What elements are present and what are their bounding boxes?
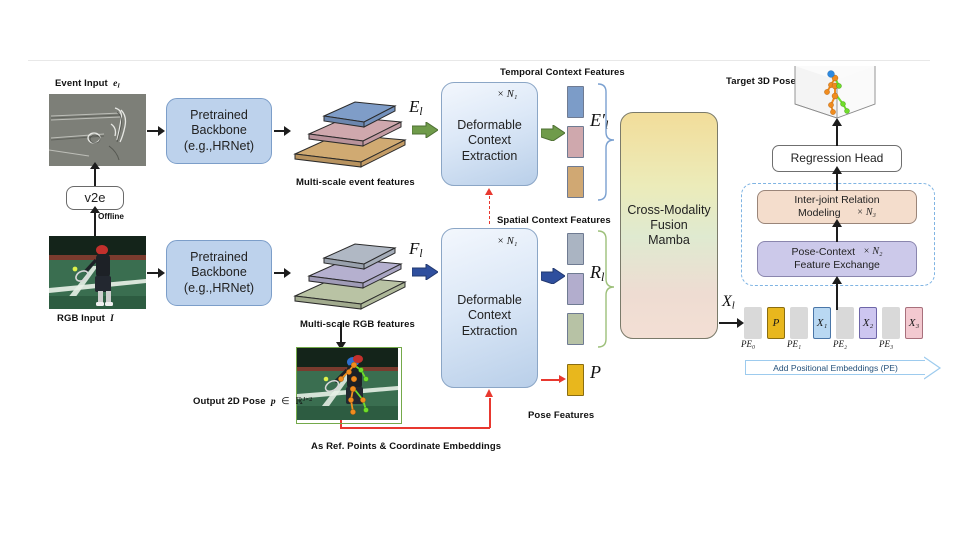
inter-joint-repeat: × N₃: [857, 207, 876, 220]
token-label: P: [773, 317, 780, 329]
arrow-pcfe-to-inter-line: [836, 226, 838, 242]
event-backbone-line1: Pretrained: [184, 108, 254, 123]
inter-joint-line1: Inter-joint Relation: [794, 194, 879, 207]
figure-canvas: Event Input eI: [0, 0, 959, 540]
event-dce-line2: Context: [457, 133, 522, 148]
temporal-bar-2: [567, 126, 584, 158]
event-stack-symbol: El: [409, 97, 423, 118]
cross-modality-fusion-mamba-box: Cross-Modality Fusion Mamba: [620, 112, 718, 339]
rgb-dce-line2: Context: [457, 308, 522, 323]
event-backbone-line2: Backbone: [184, 123, 254, 138]
arrow-pose-feature-line: [541, 379, 561, 381]
token-7: X₃: [905, 307, 923, 339]
arrow-reg-to-pose3d-line: [836, 126, 838, 146]
event-dce-line1: Deformable: [457, 118, 522, 133]
pe-slot-0: [744, 307, 762, 339]
arrow-rgb-stack-to-dce: [412, 264, 438, 285]
token-1: P: [767, 307, 785, 339]
rgb-input-label: RGB Input I: [57, 313, 114, 324]
arrow-rgb-backbone-out-head: [284, 268, 291, 278]
arrow-rgb-to-v2e-head: [90, 206, 100, 213]
pe-banner-arrow-outline: [924, 355, 942, 386]
arrow-inter-to-reg-line: [836, 173, 838, 191]
output-2d-pose-thumbnail: [296, 347, 402, 424]
dashed-arrow-rgb-to-event-dce-head: [485, 188, 493, 195]
pe-label-6: PE₃: [879, 339, 893, 349]
spatial-bar-2: [567, 273, 584, 305]
arrow-rgb-dce-out: [541, 268, 565, 289]
target-3d-pose-visual: [787, 64, 883, 122]
pose-context-feature-exchange-box: Pose-Context × N₂ Feature Exchange: [757, 241, 917, 277]
offline-label: Offline: [98, 212, 124, 221]
arrow-event-to-backbone-head: [158, 126, 165, 136]
arrow-pose-to-dce-head: [485, 389, 493, 397]
temporal-brace: [596, 82, 618, 207]
token-5: X₂: [859, 307, 877, 339]
temporal-bar-1: [567, 86, 584, 118]
rgb-dce-line1: Deformable: [457, 293, 522, 308]
rgb-dce-repeat: × N₁: [497, 236, 517, 247]
dashed-arrow-rgb-to-event-dce-line: [489, 196, 490, 224]
token-label: X₁: [817, 317, 828, 329]
event-backbone-box: Pretrained Backbone (e.g.,HRNet): [166, 98, 272, 164]
event-dce-line3: Extraction: [457, 149, 522, 164]
rgb-deformable-context-extraction-box: Deformable Context Extraction: [441, 228, 538, 388]
fusion-line3: Mamba: [627, 233, 710, 248]
fusion-output-symbol: Xl: [722, 293, 735, 312]
regression-head-label: Regression Head: [791, 151, 884, 166]
rgb-feature-stack: [291, 238, 411, 318]
rgb-backbone-line2: Backbone: [184, 265, 254, 280]
arrow-fusion-to-tokens-head: [737, 318, 744, 328]
pose-features-caption: Pose Features: [528, 410, 594, 421]
header-divider: [28, 60, 930, 61]
token-label: X₃: [909, 317, 920, 329]
fusion-line1: Cross-Modality: [627, 203, 710, 218]
arrow-v2e-to-event-head: [90, 162, 100, 169]
output-2d-pose-caption: Output 2D Pose p ∈ ℝJ×2: [193, 396, 312, 407]
arrow-event-dce-out: [541, 125, 565, 146]
arrow-pose-to-dce-h: [340, 427, 490, 429]
pose-context-line2: Feature Exchange: [791, 259, 882, 272]
spatial-brace: [596, 229, 618, 354]
arrow-pcfe-to-inter-head: [832, 219, 842, 227]
pose-context-line1: Pose-Context: [791, 246, 855, 259]
arrow-pose-to-dce-v-right: [489, 398, 491, 428]
rgb-backbone-line3: (e.g.,HRNet): [184, 281, 254, 296]
pe-label-0: PE₀: [741, 339, 755, 349]
v2e-label: v2e: [85, 190, 106, 206]
spatial-bar-3: [567, 313, 584, 345]
pe-slot-2: [790, 307, 808, 339]
arrow-v2e-to-event-line: [94, 168, 96, 186]
pe-label-2: PE₁: [787, 339, 801, 349]
rgb-backbone-line1: Pretrained: [184, 250, 254, 265]
event-input-thumbnail: [49, 94, 146, 166]
event-input-label: Event Input eI: [55, 78, 120, 90]
arrow-rgb-to-v2e-line: [94, 212, 96, 236]
arrow-tokens-to-pcfe-head: [832, 276, 842, 284]
arrow-inter-to-reg-head: [832, 166, 842, 174]
add-positional-embeddings-banner: Add Positional Embeddings (PE): [745, 360, 926, 375]
fusion-line2: Fusion: [627, 218, 710, 233]
event-feature-stack: [291, 96, 411, 176]
pe-slot-4: [836, 307, 854, 339]
arrow-pose-feature-head: [559, 375, 566, 383]
arrow-rgb-to-backbone-head: [158, 268, 165, 278]
pe-slot-6: [882, 307, 900, 339]
pe-label-4: PE₂: [833, 339, 847, 349]
rgb-stack-caption: Multi-scale RGB features: [300, 319, 415, 330]
arrow-tokens-to-pcfe-line: [836, 284, 838, 310]
rgb-input-thumbnail: [49, 236, 146, 309]
event-stack-caption: Multi-scale event features: [296, 177, 415, 188]
rgb-stack-symbol: Fl: [409, 239, 423, 260]
spatial-bar-1: [567, 233, 584, 265]
pose-context-repeat: × N₂: [863, 246, 882, 259]
event-deformable-context-extraction-box: Deformable Context Extraction: [441, 82, 538, 186]
pose-feature-bar: [567, 364, 584, 396]
token-label: X₂: [863, 317, 874, 329]
arrow-fusion-to-tokens-line: [719, 322, 739, 324]
target-3d-pose-caption: Target 3D Pose: [726, 76, 796, 87]
event-dce-repeat: × N₁: [497, 89, 517, 100]
rgb-backbone-box: Pretrained Backbone (e.g.,HRNet): [166, 240, 272, 306]
event-backbone-line3: (e.g.,HRNet): [184, 139, 254, 154]
arrow-rgbstack-to-pose-line: [340, 322, 342, 344]
rgb-dce-line3: Extraction: [457, 324, 522, 339]
pe-banner-label: Add Positional Embeddings (PE): [773, 363, 898, 373]
spatial-context-caption: Spatial Context Features: [497, 215, 611, 226]
temporal-context-caption: Temporal Context Features: [500, 67, 625, 78]
temporal-bar-3: [567, 166, 584, 198]
pe-label-row: PE₀PE₁PE₂PE₃: [744, 339, 944, 353]
ref-points-note: As Ref. Points & Coordinate Embeddings: [311, 441, 501, 452]
token-3: X₁: [813, 307, 831, 339]
token-sequence: PX₁X₂X₃: [744, 307, 944, 339]
arrow-event-backbone-out-head: [284, 126, 291, 136]
arrow-event-stack-to-dce: [412, 122, 438, 143]
pose-feature-symbol: P: [590, 362, 601, 383]
